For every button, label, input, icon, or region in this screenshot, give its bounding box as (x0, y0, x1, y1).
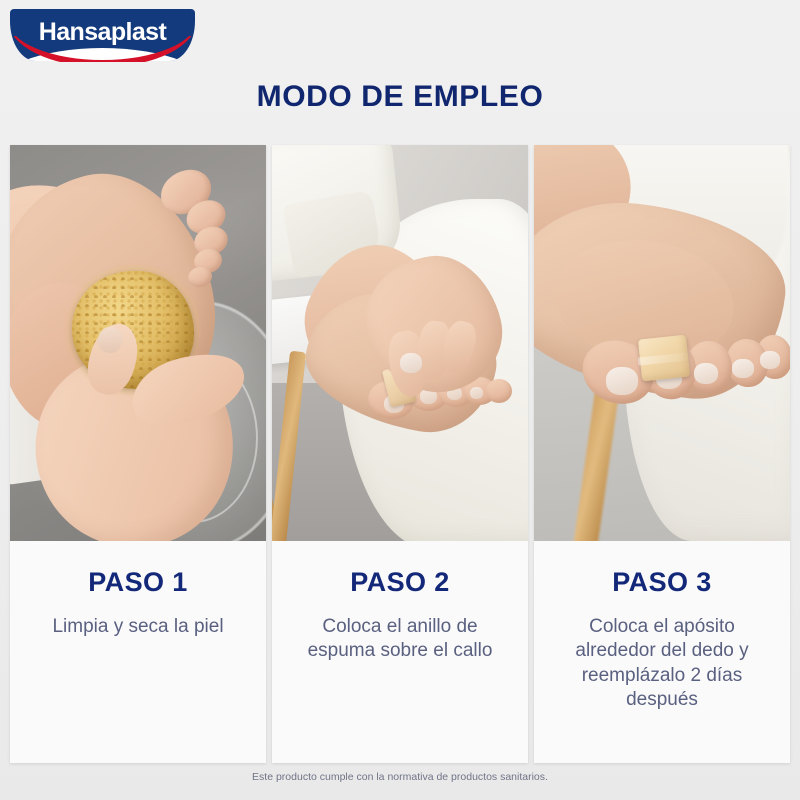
step-card-1: PASO 1 Limpia y seca la piel (10, 145, 266, 763)
step-2-caption: PASO 2 Coloca el anillo de espuma sobre … (272, 541, 528, 763)
step-3-caption: PASO 3 Coloca el apósito alrededor del d… (534, 541, 790, 763)
step-1-photo (10, 145, 266, 541)
toe-5 (486, 379, 512, 403)
step-3-title: PASO 3 (548, 567, 776, 598)
step-2-photo (272, 145, 528, 541)
hansaplast-logo: Hansaplast (10, 9, 195, 61)
page-title: MODO DE EMPLEO (0, 80, 800, 114)
step-3-description: Coloca el apósito alrededor del dedo y r… (548, 615, 776, 712)
step-1-caption: PASO 1 Limpia y seca la piel (10, 541, 266, 763)
infographic-page: Hansaplast MODO DE EMPLEO (0, 0, 800, 800)
step-card-2: PASO 2 Coloca el anillo de espuma sobre … (272, 145, 528, 763)
steps-container: PASO 1 Limpia y seca la piel (10, 145, 790, 763)
toenail-1 (606, 367, 638, 395)
toenail-5 (760, 351, 780, 369)
step-2-title: PASO 2 (286, 567, 514, 598)
fingernail (400, 353, 422, 373)
legal-disclaimer: Este producto cumple con la normativa de… (0, 771, 800, 783)
toenail-4 (470, 387, 483, 399)
toenail-4 (732, 359, 754, 378)
step-1-description: Limpia y seca la piel (24, 615, 252, 639)
step-2-description: Coloca el anillo de espuma sobre el call… (286, 615, 514, 664)
step-card-3: PASO 3 Coloca el apósito alrededor del d… (534, 145, 790, 763)
step-3-photo (534, 145, 790, 541)
logo-wordmark: Hansaplast (10, 18, 195, 47)
toenail-3 (694, 363, 718, 384)
step-1-title: PASO 1 (24, 567, 252, 598)
